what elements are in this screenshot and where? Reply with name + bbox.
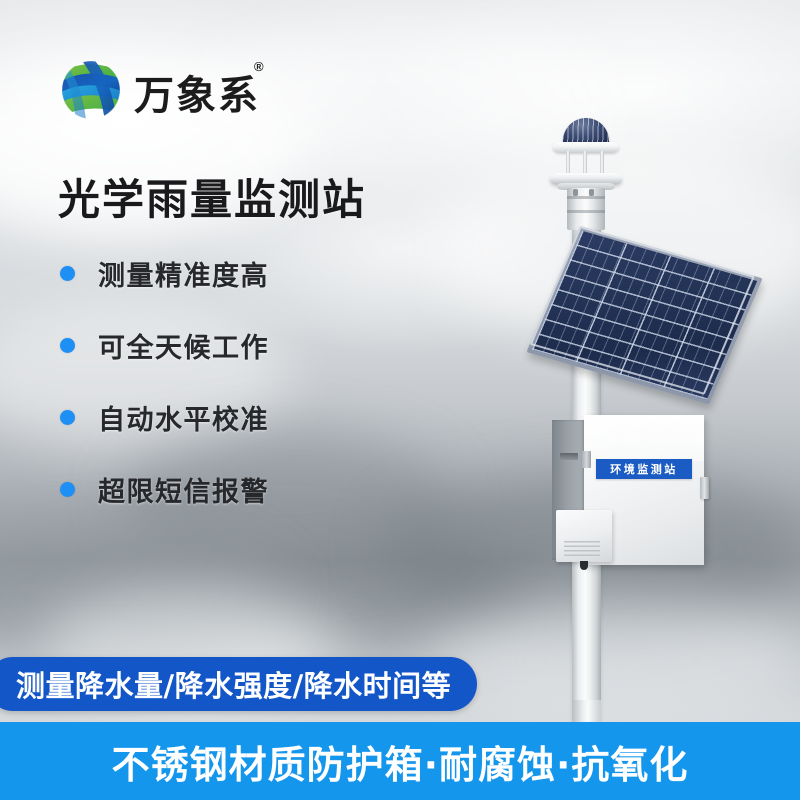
- sensor-post: [583, 151, 587, 175]
- pill-banner: 测量降水量/降水强度/降水时间等: [0, 657, 477, 711]
- enclosure-gloss: [584, 415, 704, 461]
- enclosure-box: 环境监测站: [552, 415, 704, 567]
- solar-panel-assembly: [572, 222, 772, 402]
- sensor-post: [600, 151, 604, 175]
- bullet-dot-icon: [60, 266, 75, 281]
- sensor-dome: [563, 118, 609, 144]
- feature-list: 测量精准度高 可全天候工作 自动水平校准 超限短信报警: [60, 258, 390, 546]
- feature-label: 测量精准度高: [98, 254, 269, 293]
- bottom-banner: 不锈钢材质防护箱·耐腐蚀·抗氧化: [0, 722, 800, 800]
- bottom-banner-text: 不锈钢材质防护箱·耐腐蚀·抗氧化: [112, 734, 689, 789]
- sensor-ring: [567, 196, 605, 199]
- cable-gland: [580, 561, 588, 570]
- enclosure-hinge: [582, 451, 591, 468]
- feature-label: 超限短信报警: [98, 470, 269, 509]
- bullet-dot-icon: [60, 410, 75, 425]
- sensor-post: [566, 151, 570, 175]
- sensor-ring: [567, 210, 605, 213]
- pill-banner-text: 测量降水量/降水强度/降水时间等: [16, 663, 451, 705]
- enclosure-vent: [560, 453, 578, 460]
- brand-logo: 万象系 ®: [58, 55, 308, 127]
- optical-rain-sensor: [545, 118, 627, 228]
- enclosure-nameplate: 环境监测站: [596, 459, 692, 479]
- sensor-bolt: [589, 189, 594, 196]
- globe-swoosh-logo-icon: [58, 57, 124, 123]
- bullet-dot-icon: [60, 338, 75, 353]
- sub-box-vents: [564, 539, 600, 556]
- feature-item: 测量精准度高: [60, 258, 390, 288]
- feature-item: 超限短信报警: [60, 474, 390, 504]
- bullet-dot-icon: [60, 482, 75, 497]
- brand-name: 万象系: [134, 63, 260, 121]
- sensor-bolt: [573, 189, 578, 196]
- enclosure-latch: [700, 477, 709, 499]
- feature-item: 自动水平校准: [60, 402, 390, 432]
- page-title: 光学雨量监测站: [58, 166, 366, 227]
- feature-label: 自动水平校准: [98, 398, 269, 437]
- feature-item: 可全天候工作: [60, 330, 390, 360]
- enclosure-nameplate-text: 环境监测站: [610, 461, 678, 477]
- trademark-symbol: ®: [254, 59, 264, 74]
- feature-label: 可全天候工作: [98, 326, 269, 365]
- product-poster: 环境监测站: [0, 0, 800, 800]
